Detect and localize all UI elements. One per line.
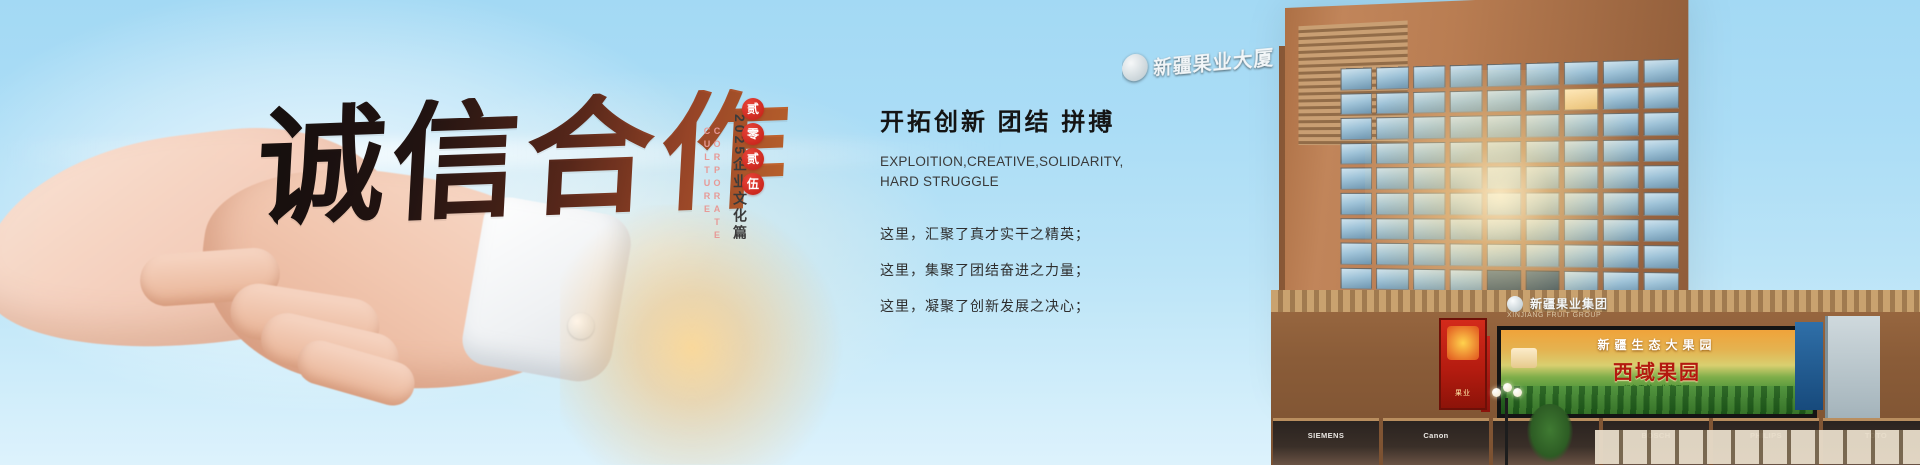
lamp-head	[1492, 386, 1522, 400]
window	[1487, 115, 1521, 138]
window	[1376, 142, 1408, 164]
window	[1376, 268, 1408, 291]
window	[1413, 116, 1446, 139]
street-lamp	[1505, 398, 1508, 465]
window	[1376, 167, 1408, 189]
window	[1564, 87, 1599, 111]
window	[1450, 243, 1483, 266]
window	[1643, 192, 1679, 215]
window	[1413, 142, 1446, 165]
window	[1487, 192, 1521, 215]
window	[1525, 140, 1559, 163]
building-photo: 新疆果业大厦 新疆果业集团 XINJIANG FRUIT GROUP 果业 新疆…	[1035, 0, 1920, 465]
window	[1341, 243, 1373, 265]
seal-stamp: 伍	[742, 173, 764, 195]
window	[1376, 92, 1408, 115]
window	[1413, 65, 1446, 88]
window	[1487, 167, 1521, 190]
window	[1525, 62, 1559, 86]
window	[1603, 192, 1638, 215]
company-logo-icon	[1122, 53, 1148, 82]
year-seal-group: 贰 零 贰 伍	[742, 98, 764, 195]
window	[1376, 243, 1408, 265]
window	[1413, 193, 1446, 215]
billboard-brand: 西域果园	[1501, 356, 1813, 385]
window	[1603, 218, 1638, 241]
window	[1603, 113, 1638, 137]
window	[1525, 166, 1559, 189]
window	[1341, 193, 1373, 215]
window	[1643, 245, 1679, 269]
window	[1487, 244, 1521, 267]
window	[1525, 88, 1559, 112]
wall-poster: 果业	[1439, 318, 1487, 410]
mall-sign-text: 新疆果业集团	[1530, 295, 1608, 312]
mall-sign: 新疆果业集团	[1507, 295, 1608, 312]
window	[1450, 64, 1483, 87]
window	[1643, 59, 1679, 83]
window	[1603, 245, 1638, 269]
window	[1643, 219, 1679, 243]
window	[1525, 192, 1559, 215]
mall-sign-subtext: XINJIANG FRUIT GROUP	[1507, 312, 1601, 319]
corporate-culture-banner: 诚信合作 CORPORATE CULTURE 2025企业文化篇 贰 零 贰 伍…	[0, 0, 1920, 465]
shop-awnings	[1595, 430, 1920, 464]
window	[1487, 141, 1521, 164]
window	[1450, 116, 1483, 139]
poster-text: 果业	[1441, 388, 1485, 398]
window	[1413, 167, 1446, 189]
window	[1603, 166, 1638, 189]
lamp-bulb	[1513, 388, 1522, 397]
cuff-button	[568, 313, 594, 339]
window	[1413, 268, 1446, 291]
window	[1376, 218, 1408, 240]
window	[1341, 267, 1373, 289]
seal-stamp: 贰	[742, 98, 764, 120]
storefront: Canon	[1383, 418, 1489, 465]
window	[1341, 218, 1373, 240]
window	[1564, 244, 1599, 267]
window	[1341, 118, 1373, 140]
window	[1341, 168, 1373, 190]
window	[1525, 218, 1559, 241]
window	[1450, 90, 1483, 113]
mall-logo-icon	[1507, 296, 1523, 312]
window	[1643, 85, 1679, 109]
storefront: SIEMENS	[1273, 418, 1379, 465]
storefront-label: SIEMENS	[1273, 431, 1379, 440]
window	[1525, 244, 1559, 267]
vertical-english-label: CORPORATE CULTURE	[702, 126, 722, 272]
window	[1564, 166, 1599, 189]
window	[1413, 91, 1446, 114]
window	[1341, 93, 1373, 116]
window	[1643, 139, 1679, 163]
lamp-bulb	[1503, 383, 1512, 392]
window	[1341, 143, 1373, 165]
rooftop-sign-text: 新疆果业大厦	[1153, 40, 1274, 80]
window	[1487, 89, 1521, 112]
side-poster	[1795, 322, 1823, 410]
window	[1450, 167, 1483, 190]
window	[1450, 269, 1483, 292]
storefront-label: Canon	[1383, 431, 1489, 440]
window	[1450, 192, 1483, 215]
window	[1564, 218, 1599, 241]
window	[1413, 218, 1446, 240]
window	[1376, 193, 1408, 215]
window	[1564, 113, 1599, 137]
window	[1564, 192, 1599, 215]
window	[1564, 140, 1599, 163]
seal-stamp: 零	[742, 123, 764, 145]
window	[1376, 117, 1408, 140]
poster-graphic	[1447, 326, 1479, 360]
window	[1603, 139, 1638, 163]
window	[1487, 218, 1521, 241]
window	[1413, 243, 1446, 266]
window	[1376, 66, 1408, 89]
lamp-bulb	[1492, 388, 1501, 397]
window	[1487, 63, 1521, 86]
window	[1450, 141, 1483, 164]
window	[1643, 112, 1679, 136]
window	[1603, 86, 1638, 110]
billboard-title: 新疆生态大果园	[1501, 336, 1813, 353]
window	[1643, 165, 1679, 189]
street-tree	[1527, 404, 1573, 462]
window	[1603, 60, 1638, 84]
window	[1450, 218, 1483, 241]
seal-stamp: 贰	[742, 148, 764, 170]
window	[1525, 114, 1559, 137]
window	[1564, 61, 1599, 85]
